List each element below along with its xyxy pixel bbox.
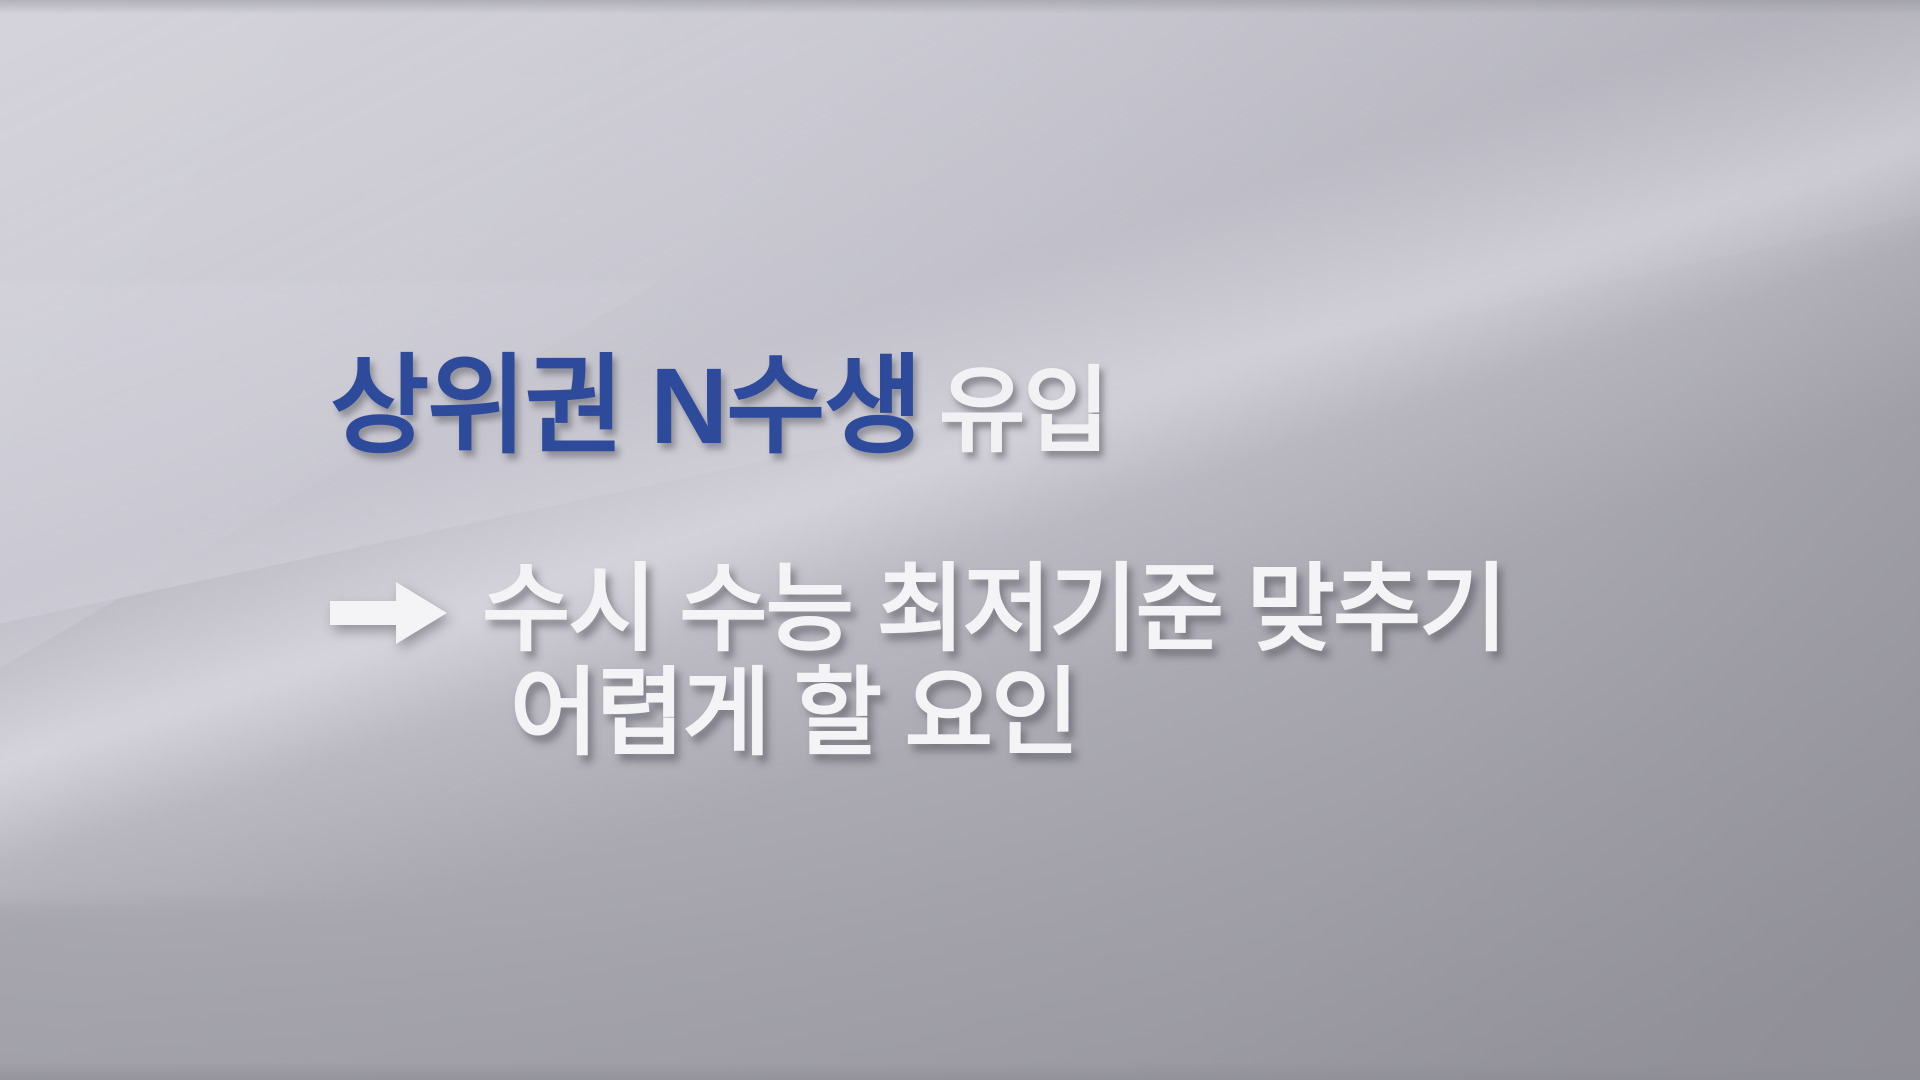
subheadline-line-1: 수시 수능 최저기준 맞추기 [330,560,1650,660]
title-content: 상위권 N수생유입 수시 수능 최저기준 맞추기 어렵게 할 요인 [0,0,1920,1080]
headline-emphasis-text: 상위권 N수생 [330,345,921,466]
headline: 상위권 N수생유입 [330,352,1108,460]
subheadline-text-line-2: 어렵게 할 요인 [510,664,1077,764]
title-card-stage: 상위권 N수생유입 수시 수능 최저기준 맞추기 어렵게 할 요인 [0,0,1920,1080]
subheadline: 수시 수능 최저기준 맞추기 어렵게 할 요인 [330,560,1650,764]
right-arrow-icon [330,580,448,646]
subheadline-text-line-1: 수시 수능 최저기준 맞추기 [482,560,1506,660]
subheadline-line-2: 어렵게 할 요인 [330,664,1650,764]
headline-plain-text: 유입 [939,358,1108,463]
